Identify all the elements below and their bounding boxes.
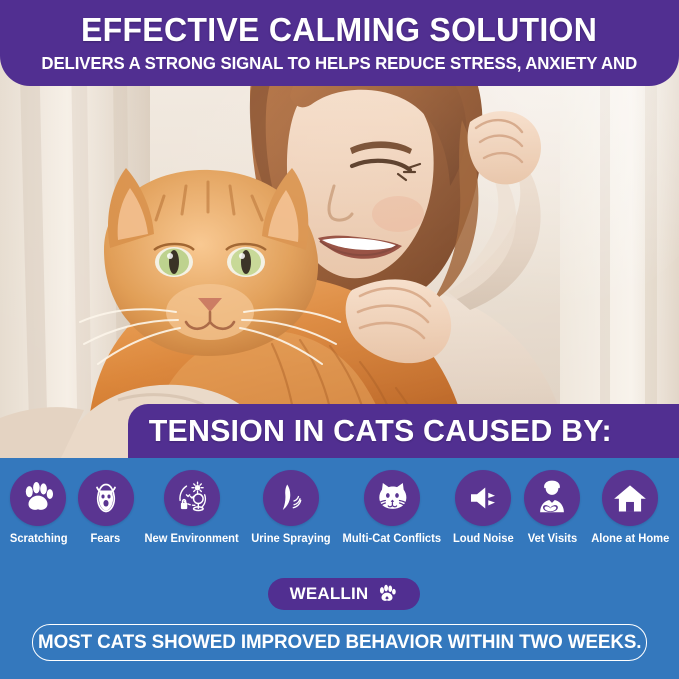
claim-text: MOST CATS SHOWED IMPROVED BEHAVIOR WITHI… — [38, 632, 641, 654]
paw-print-icon — [376, 583, 398, 605]
cause-icon-row: Scratching Fears — [0, 470, 679, 570]
tension-banner: TENSION IN CATS CAUSED BY: — [128, 404, 679, 458]
cause-item-scratching[interactable]: Scratching — [9, 470, 68, 546]
cause-label: New Environment — [145, 534, 239, 546]
fearful-cat-icon — [78, 470, 134, 526]
page-subtitle: DELIVERS A STRONG SIGNAL TO HELPS REDUCE… — [42, 55, 638, 73]
house-icon — [602, 470, 658, 526]
header-banner: EFFECTIVE CALMING SOLUTION DELIVERS A ST… — [0, 0, 679, 86]
tension-banner-title: TENSION IN CATS CAUSED BY: — [149, 413, 612, 449]
vet-with-cat-icon — [524, 470, 580, 526]
cause-item-alone-at-home[interactable]: Alone at Home — [590, 470, 671, 546]
urine-spray-icon — [263, 470, 319, 526]
cause-label: Alone at Home — [591, 534, 669, 546]
loud-speaker-icon — [455, 470, 511, 526]
cause-item-urine-spraying[interactable]: Urine Spraying — [250, 470, 332, 546]
cause-label: Loud Noise — [453, 534, 514, 546]
new-environment-icon — [164, 470, 220, 526]
cause-item-vet-visits[interactable]: Vet Visits — [524, 470, 580, 546]
claim-box: MOST CATS SHOWED IMPROVED BEHAVIOR WITHI… — [32, 624, 647, 661]
cause-label: Vet Visits — [528, 534, 577, 546]
paw-print-icon — [10, 470, 66, 526]
cause-label: Fears — [91, 534, 121, 546]
cause-label: Scratching — [10, 534, 68, 546]
cat-face-icon — [364, 470, 420, 526]
page-title: EFFECTIVE CALMING SOLUTION — [81, 13, 597, 46]
cause-label: Urine Spraying — [251, 534, 330, 546]
cause-item-loud-noise[interactable]: Loud Noise — [452, 470, 515, 546]
cause-item-multi-cat-conflicts[interactable]: Multi-Cat Conflicts — [341, 470, 443, 546]
cause-item-new-environment[interactable]: New Environment — [143, 470, 240, 546]
brand-name: WEALLIN — [290, 584, 369, 604]
cause-item-fears[interactable]: Fears — [78, 470, 134, 546]
product-infographic-card: EFFECTIVE CALMING SOLUTION DELIVERS A ST… — [0, 0, 679, 679]
brand-logo: WEALLIN — [268, 578, 420, 610]
cause-label: Multi-Cat Conflicts — [343, 534, 442, 546]
